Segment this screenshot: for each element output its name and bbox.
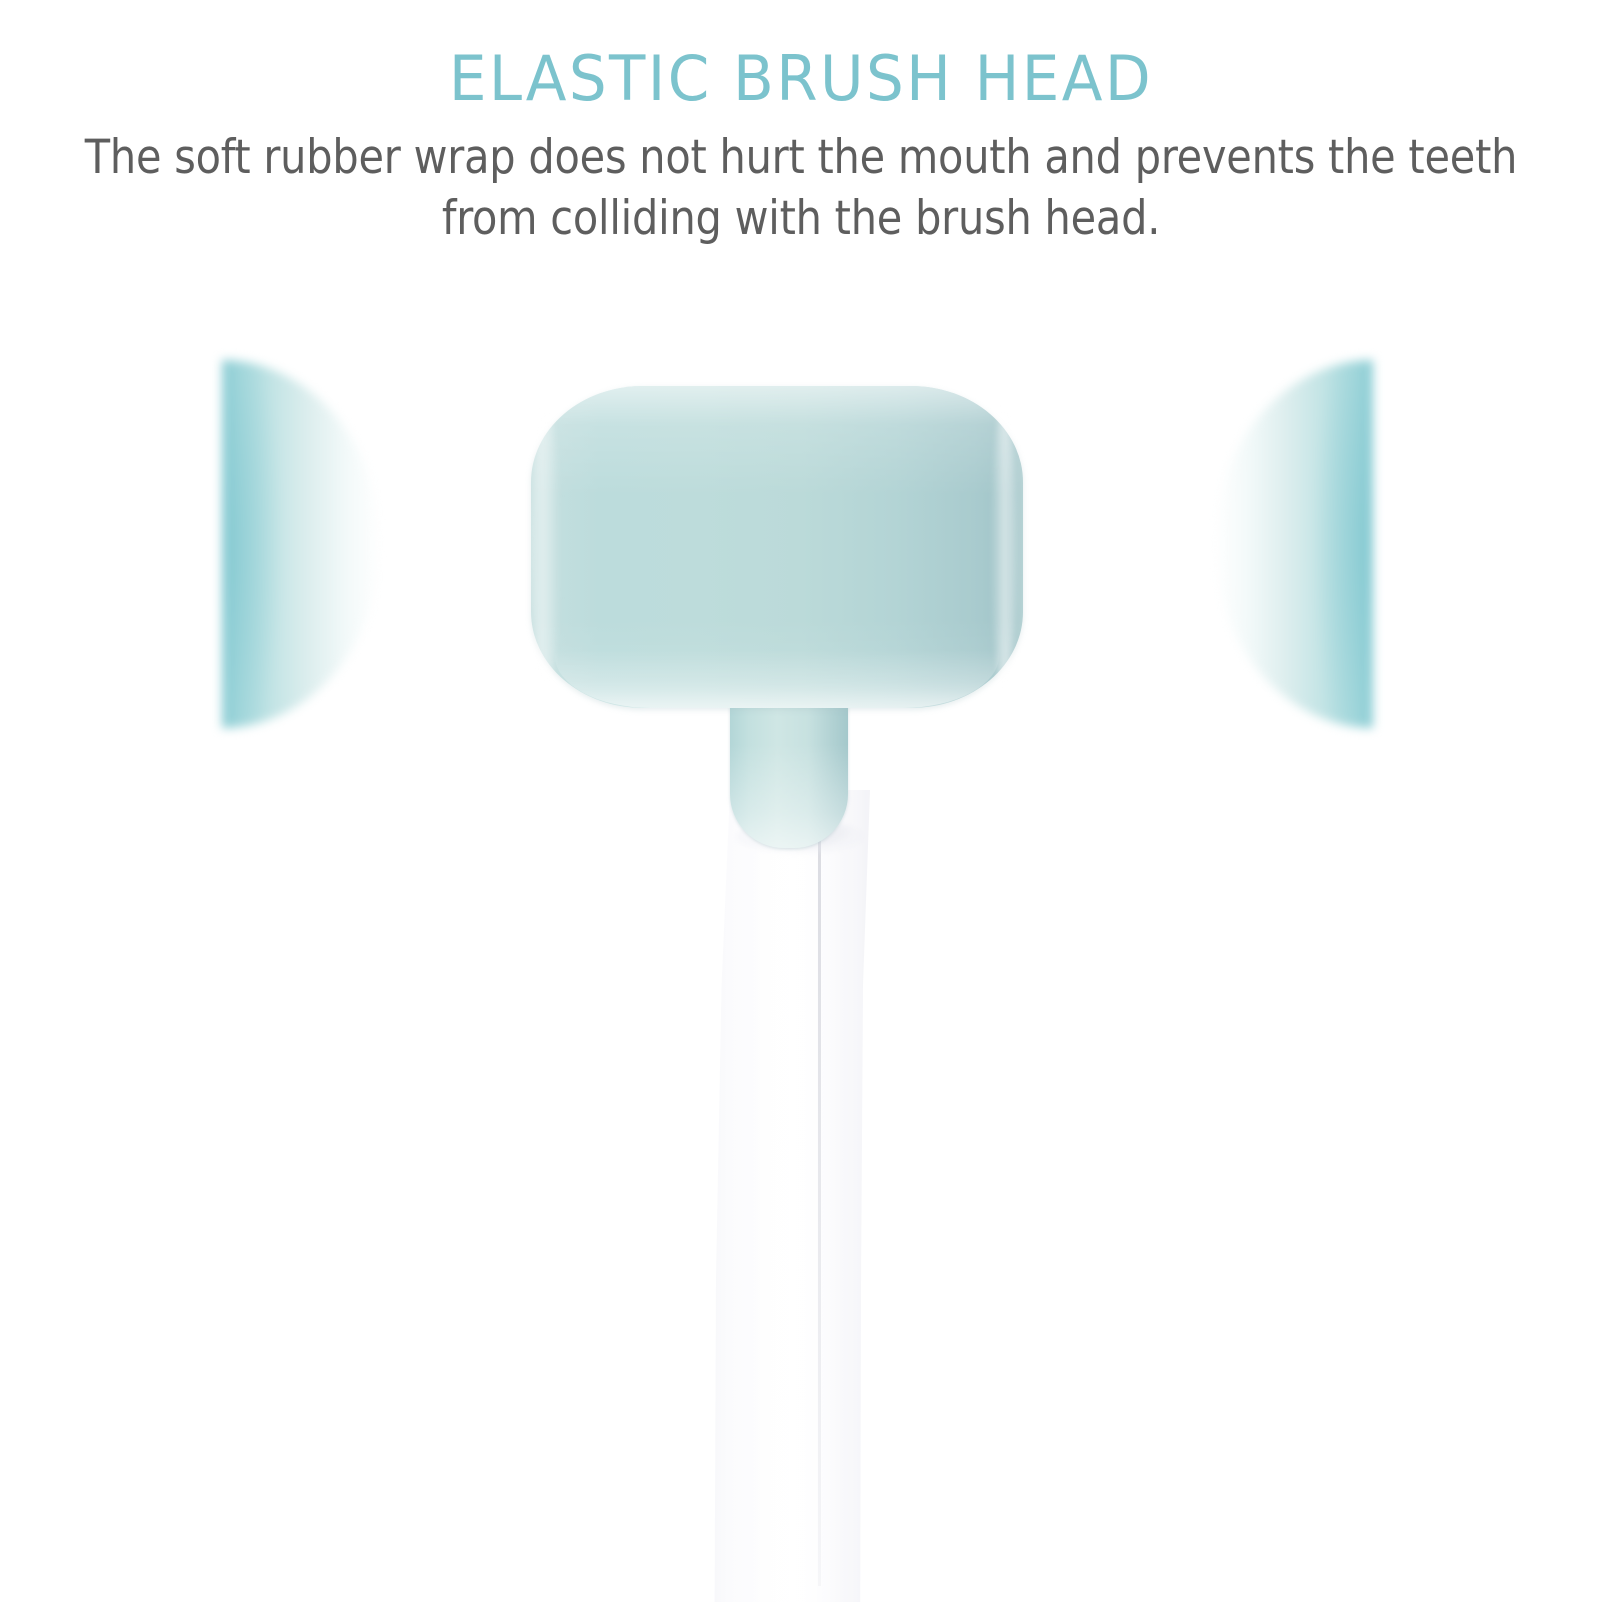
product-artwork bbox=[0, 0, 1602, 1602]
toothbrush-handle bbox=[660, 790, 940, 1602]
blurred-brush-head-right-icon bbox=[1215, 360, 1373, 728]
elastic-brush-head bbox=[531, 386, 1023, 708]
brush-head-left-edge-highlight bbox=[531, 404, 561, 690]
product-infographic: ELASTIC BRUSH HEAD The soft rubber wrap … bbox=[0, 0, 1602, 1602]
brush-head-right-rim-highlight bbox=[991, 402, 1017, 692]
handle-seam-line bbox=[818, 826, 821, 1586]
brush-head-underside-shading bbox=[555, 650, 999, 708]
handle-highlight bbox=[660, 790, 940, 1602]
blurred-brush-head-left-icon bbox=[222, 360, 380, 728]
